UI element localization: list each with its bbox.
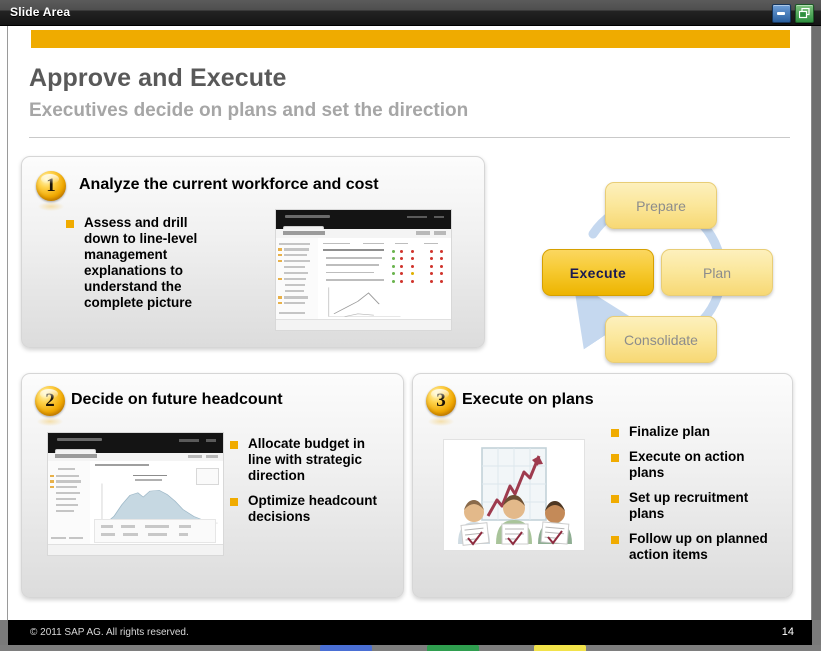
card-bullets-1: Assess and drill down to line-level mana…: [66, 215, 226, 320]
list-item: Optimize headcount decisions: [230, 493, 385, 525]
app-area-chart-screenshot: [47, 432, 224, 556]
card-heading-3: Execute on plans: [462, 391, 594, 409]
cycle-step-label: Plan: [703, 265, 731, 281]
bullet-square-icon: [611, 429, 619, 437]
bullet-square-icon: [611, 536, 619, 544]
card-execute[interactable]: 3 Execute on plans: [412, 373, 793, 598]
bullet-text: Set up recruitment plans: [629, 490, 776, 522]
list-item: Finalize plan: [611, 424, 776, 440]
thumb-mini-chart: [318, 286, 451, 321]
taskbar-item-blue[interactable]: [320, 645, 372, 651]
card-analyze[interactable]: 1 Analyze the current workforce and cost…: [21, 156, 485, 348]
slide-area-window: Slide Area Approve and Execute Executive…: [0, 0, 821, 651]
bullet-text: Follow up on planned action items: [629, 531, 776, 563]
thumb-nav-tree: [276, 238, 319, 321]
bullet-square-icon: [230, 441, 238, 449]
bullet-square-icon: [611, 454, 619, 462]
bullet-square-icon: [611, 495, 619, 503]
bullet-text: Allocate budget in line with strategic d…: [248, 436, 385, 484]
slide-canvas: Approve and Execute Executives decide on…: [0, 26, 821, 620]
thumb-nav-tree: [48, 461, 91, 545]
window-title: Slide Area: [10, 5, 70, 19]
window-controls: [772, 4, 814, 23]
step-badge-3: 3: [426, 386, 456, 416]
bullet-square-icon: [66, 220, 74, 228]
slide-accent-bar: [31, 30, 790, 48]
app-table-screenshot: [275, 209, 452, 331]
title-divider: [29, 137, 790, 138]
card-bullets-3: Finalize plan Execute on action plans Se…: [611, 424, 776, 572]
list-item: Set up recruitment plans: [611, 490, 776, 522]
bullet-text: Finalize plan: [629, 424, 710, 440]
taskbar-item-yellow[interactable]: [534, 645, 586, 651]
slide: Approve and Execute Executives decide on…: [8, 26, 812, 620]
cycle-step-consolidate[interactable]: Consolidate: [605, 316, 717, 363]
cycle-step-label: Prepare: [636, 198, 686, 214]
step-badge-2: 2: [35, 386, 65, 416]
cycle-step-label: Consolidate: [624, 332, 698, 348]
bullet-square-icon: [230, 498, 238, 506]
list-item: Execute on action plans: [611, 449, 776, 481]
checklist-middle: [502, 524, 528, 544]
card-bullets-2: Allocate budget in line with strategic d…: [230, 436, 385, 534]
restore-glyph: [799, 8, 810, 19]
page-subtitle: Executives decide on plans and set the d…: [29, 100, 468, 122]
thumb-table: [318, 238, 451, 321]
step-badge-1: 1: [36, 171, 66, 201]
bullet-text: Execute on action plans: [629, 449, 776, 481]
card-decide[interactable]: 2 Decide on future headcount: [21, 373, 404, 598]
cycle-step-label: Execute: [570, 265, 627, 281]
cycle-step-plan[interactable]: Plan: [661, 249, 773, 296]
cycle-step-prepare[interactable]: Prepare: [605, 182, 717, 229]
list-item: Assess and drill down to line-level mana…: [66, 215, 226, 311]
team-growth-graphic: [444, 440, 584, 550]
taskbar: [0, 645, 821, 651]
team-growth-illustration: [443, 439, 585, 551]
taskbar-item-green[interactable]: [427, 645, 479, 651]
process-cycle-diagram: Prepare Plan Consolidate Execute: [533, 176, 793, 376]
restore-window-icon[interactable]: [795, 4, 814, 23]
checklist-left: [461, 523, 489, 546]
minimize-icon[interactable]: [772, 4, 791, 23]
bullet-text: Optimize headcount decisions: [248, 493, 385, 525]
checklist-right: [541, 522, 569, 544]
background-window-edge: [0, 26, 8, 620]
thumb-footer: [48, 544, 223, 555]
window-title-bar: Slide Area: [0, 0, 821, 26]
cycle-step-execute[interactable]: Execute: [542, 249, 654, 296]
list-item: Follow up on planned action items: [611, 531, 776, 563]
page-number: 14: [782, 626, 794, 638]
bullet-text: Assess and drill down to line-level mana…: [84, 215, 226, 311]
card-heading-1: Analyze the current workforce and cost: [79, 176, 379, 194]
list-item: Allocate budget in line with strategic d…: [230, 436, 385, 484]
page-title: Approve and Execute: [29, 64, 287, 93]
card-heading-2: Decide on future headcount: [71, 391, 283, 409]
copyright-text: © 2011 SAP AG. All rights reserved.: [30, 627, 189, 638]
thumb-footer: [276, 319, 451, 330]
thumb-mini-panel: [94, 519, 217, 543]
slide-footer: © 2011 SAP AG. All rights reserved. 14: [8, 620, 812, 645]
